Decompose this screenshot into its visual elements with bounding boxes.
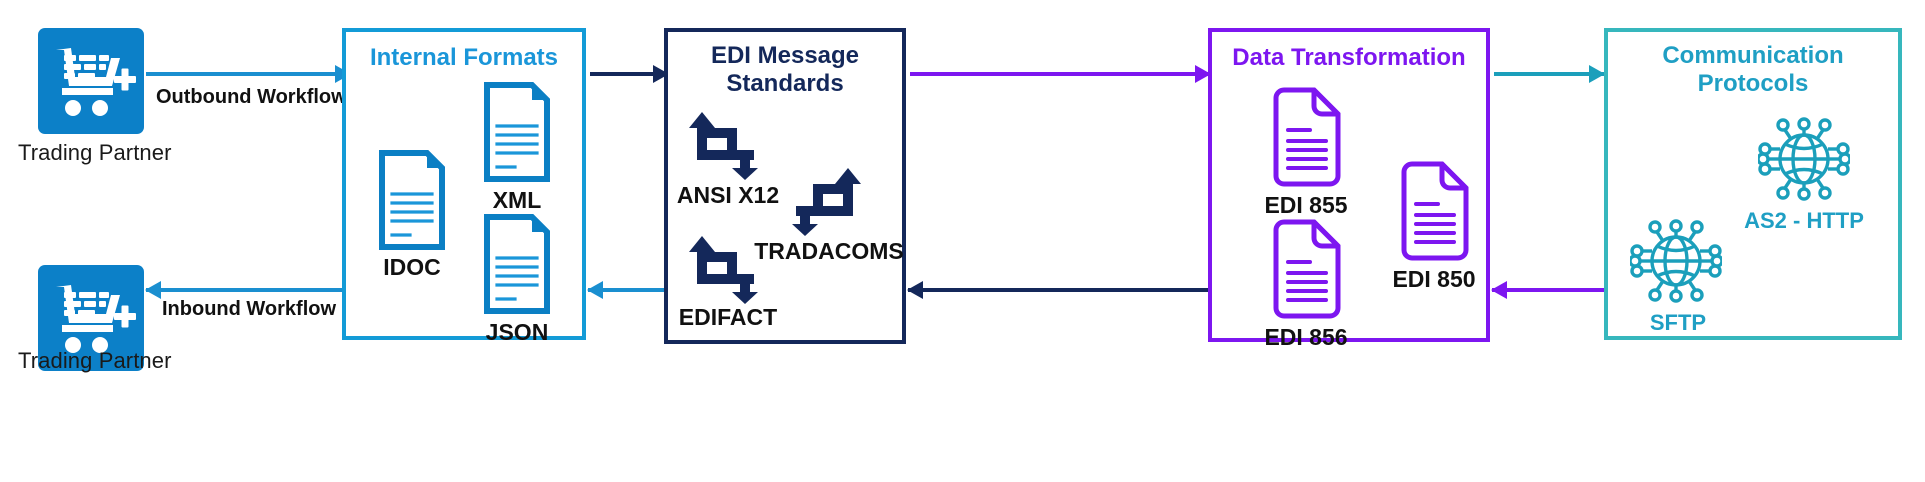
transform-item-edi-855 <box>1270 86 1342 193</box>
internal-item-xml <box>484 82 550 187</box>
comm-title-line1: Communication <box>1608 42 1898 70</box>
arrow-edi-to-transform <box>910 72 1210 76</box>
edi-title-line2: Standards <box>668 70 902 98</box>
internal-item-idoc-label: IDOC <box>356 254 468 281</box>
transform-item-edi-855-label: EDI 855 <box>1242 192 1370 219</box>
comm-item-sftp <box>1630 218 1722 309</box>
trading-partner-top-tile <box>38 28 144 134</box>
trading-partner-top-label: Trading Partner <box>18 140 172 166</box>
stage-internal-formats: Internal Formats IDOC <box>342 28 586 340</box>
edi-item-ansi-x12 <box>688 106 764 185</box>
document-icon <box>484 214 550 314</box>
transform-arrows-icon <box>688 230 764 304</box>
outbound-workflow-label: Outbound Workflow <box>156 86 347 109</box>
transform-item-edi-850-label: EDI 850 <box>1370 266 1498 293</box>
comm-item-as2-http <box>1758 116 1850 207</box>
internal-formats-title: Internal Formats <box>346 44 582 72</box>
comm-item-sftp-label: SFTP <box>1594 310 1762 336</box>
arrow-edi-to-internal <box>588 288 668 292</box>
comm-item-as2-http-label: AS2 - HTTP <box>1720 208 1888 234</box>
transform-item-edi-856 <box>1270 218 1342 325</box>
document-icon <box>1270 86 1342 188</box>
document-icon <box>379 150 445 250</box>
data-transformation-title: Data Transformation <box>1212 44 1486 72</box>
document-icon <box>1398 160 1470 262</box>
transform-arrows-icon <box>786 162 862 236</box>
edi-item-tradacoms <box>786 162 862 241</box>
inbound-workflow-label: Inbound Workflow <box>162 298 336 321</box>
stage-data-transformation: Data Transformation EDI 855 <box>1208 28 1490 342</box>
internal-item-xml-label: XML <box>461 187 573 214</box>
internal-item-json <box>484 214 550 319</box>
arrow-outbound-partner-to-internal <box>146 72 350 76</box>
arrow-internal-to-edi <box>590 72 668 76</box>
arrow-comm-to-transform <box>1492 288 1604 292</box>
stage-edi-message-standards: EDI Message Standards ANSI X12 <box>664 28 906 344</box>
network-globe-icon <box>1758 116 1850 202</box>
network-globe-icon <box>1630 218 1722 304</box>
internal-item-json-label: JSON <box>461 319 573 346</box>
arrow-transform-to-edi <box>908 288 1210 292</box>
edi-item-ansi-x12-label: ANSI X12 <box>664 182 792 209</box>
document-icon <box>1270 218 1342 320</box>
edi-title-line1: EDI Message <box>668 42 902 70</box>
transform-arrows-icon <box>688 106 764 180</box>
edi-item-tradacoms-label: TRADACOMS <box>754 238 904 265</box>
edi-item-edifact <box>688 230 764 309</box>
arrow-transform-to-comm <box>1494 72 1604 76</box>
transform-item-edi-856-label: EDI 856 <box>1242 324 1370 351</box>
comm-title-line2: Protocols <box>1608 70 1898 98</box>
edi-workflow-diagram: Trading Partner Outbound Workflow <box>0 0 1925 482</box>
document-icon <box>484 82 550 182</box>
edi-item-edifact-label: EDIFACT <box>664 304 792 331</box>
stage-communication-protocols: Communication Protocols <box>1604 28 1902 340</box>
shopping-cart-plus-icon <box>38 28 144 134</box>
transform-item-edi-850 <box>1398 160 1470 267</box>
trading-partner-bottom-label: Trading Partner <box>18 348 172 374</box>
internal-item-idoc <box>379 150 445 255</box>
